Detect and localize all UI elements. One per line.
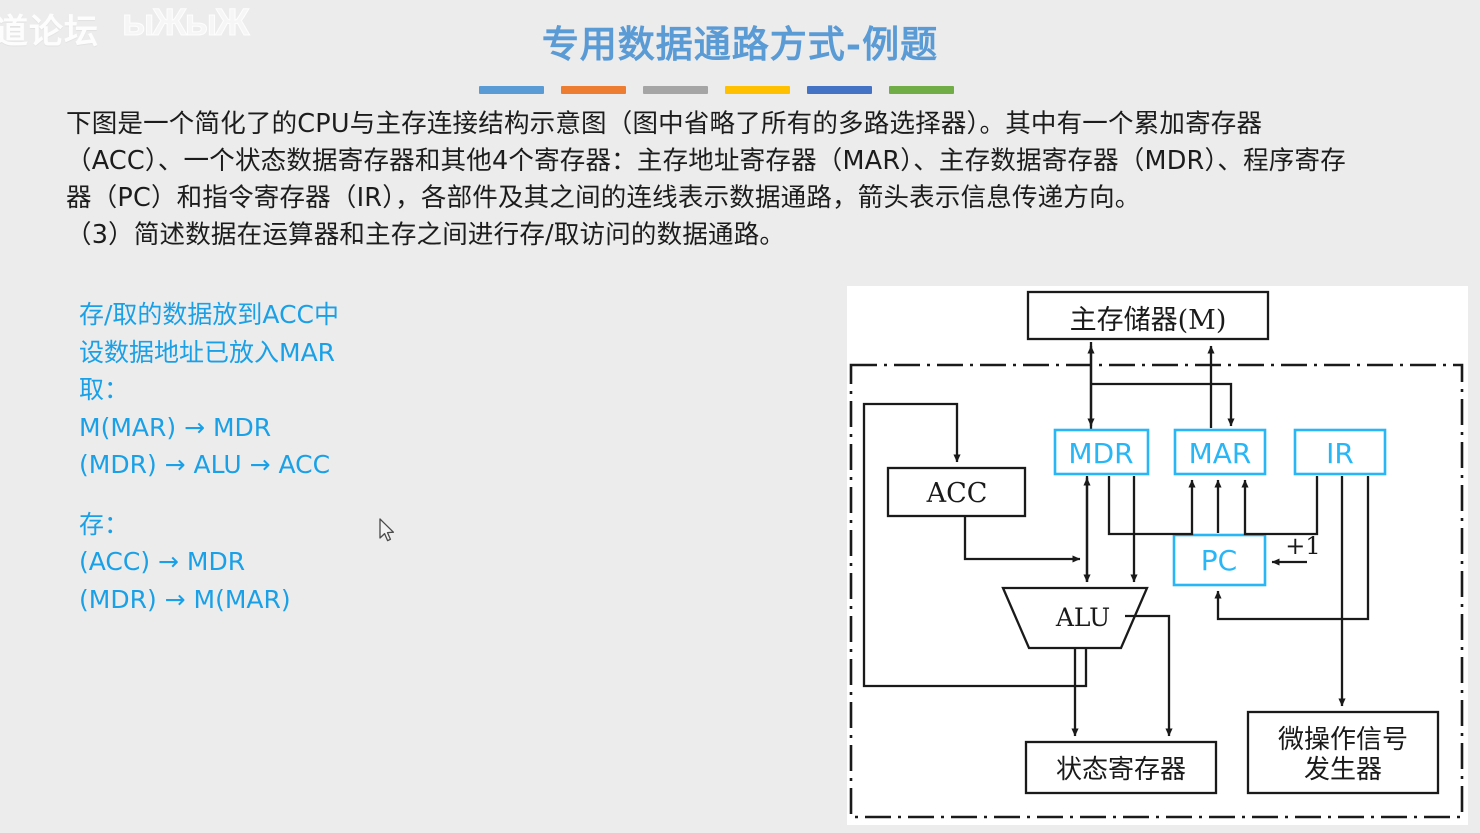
note-line-1: 存/取的数据放到ACC中 bbox=[79, 296, 339, 334]
edge-ir-mar bbox=[1245, 476, 1317, 534]
mouse-cursor-icon bbox=[378, 518, 396, 544]
label-alu: ALU bbox=[1055, 603, 1110, 632]
rule-segment-2 bbox=[561, 86, 626, 94]
note-line-5: (MDR) → ALU → ACC bbox=[79, 446, 339, 484]
rule-segment-6 bbox=[889, 86, 954, 94]
label-status: 状态寄存器 bbox=[1056, 755, 1186, 785]
label-pc: PC bbox=[1201, 544, 1237, 577]
rule-segment-5 bbox=[807, 86, 872, 94]
rule-segment-4 bbox=[725, 86, 790, 94]
note-spacer bbox=[79, 484, 339, 506]
edge-acc-mdr bbox=[965, 516, 1080, 559]
question-text: （3）简述数据在运算器和主存之间进行存/取访问的数据通路。 bbox=[66, 217, 1366, 254]
label-memory: 主存储器(M) bbox=[1070, 305, 1227, 336]
note-line-4: M(MAR) → MDR bbox=[79, 409, 339, 447]
label-increment: +1 bbox=[1285, 532, 1320, 560]
label-ir: IR bbox=[1326, 437, 1354, 470]
note-line-9: (MDR) → M(MAR) bbox=[79, 581, 339, 619]
label-mdr: MDR bbox=[1068, 437, 1133, 470]
note-line-7: 存： bbox=[79, 506, 339, 544]
edge-alu-status-right bbox=[1125, 616, 1169, 736]
body-paragraph: 下图是一个简化了的CPU与主存连接结构示意图（图中省略了所有的多路选择器）。其中… bbox=[66, 106, 1366, 254]
label-microop-1: 微操作信号 bbox=[1278, 725, 1408, 755]
rule-segment-3 bbox=[643, 86, 708, 94]
page-title: 专用数据通路方式-例题 bbox=[0, 14, 1480, 68]
label-microop-2: 发生器 bbox=[1304, 755, 1382, 785]
slide-root: 道论坛 ыЖыЖ 专用数据通路方式-例题 下图是一个简化了的CPU与主存连接结构… bbox=[0, 0, 1480, 833]
label-mar: MAR bbox=[1189, 437, 1252, 470]
label-acc: ACC bbox=[926, 478, 988, 509]
edge-mdr-mar bbox=[1109, 476, 1192, 534]
rule-segment-1 bbox=[479, 86, 544, 94]
title-rule bbox=[479, 86, 954, 94]
note-line-2: 设数据地址已放入MAR bbox=[79, 334, 339, 372]
cpu-datapath-diagram: 主存储器(M) ACC ALU 状态寄存器 微操作信号 发生器 +1 MDR M… bbox=[847, 286, 1468, 825]
paragraph-text: 下图是一个简化了的CPU与主存连接结构示意图（图中省略了所有的多路选择器）。其中… bbox=[66, 109, 1346, 213]
note-line-8: (ACC) → MDR bbox=[79, 543, 339, 581]
annotation-notes: 存/取的数据放到ACC中 设数据地址已放入MAR 取： M(MAR) → MDR… bbox=[79, 296, 339, 618]
note-line-3: 取： bbox=[79, 371, 339, 409]
